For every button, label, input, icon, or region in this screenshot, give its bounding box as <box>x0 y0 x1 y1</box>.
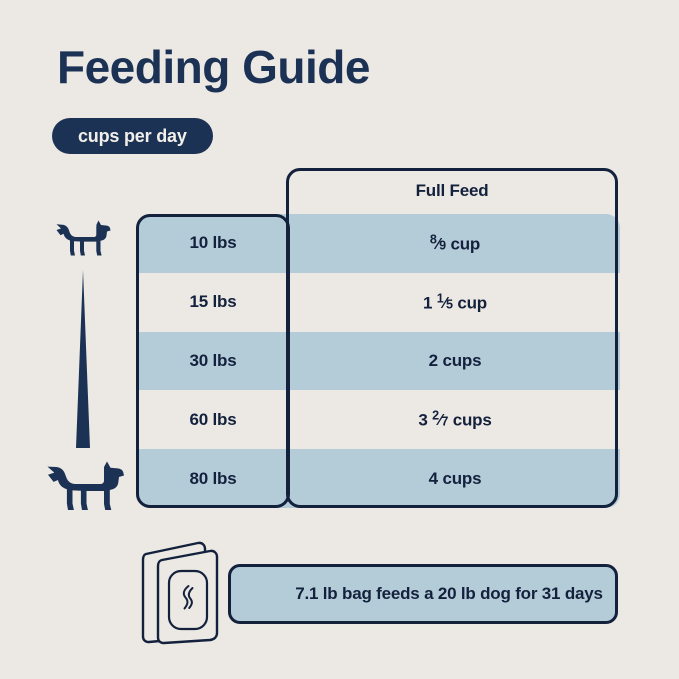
cell-weight: 60 lbs <box>136 410 290 430</box>
column-header-label: Full Feed <box>416 181 489 201</box>
callout-bar: 7.1 lb bag feeds a 20 lb dog for 31 days <box>228 564 618 624</box>
cell-weight: 10 lbs <box>136 233 290 253</box>
cell-amount: 3 2⁄7 cups <box>290 409 620 430</box>
table-row: 10 lbs 8⁄9 cup <box>136 214 620 273</box>
cell-weight: 30 lbs <box>136 351 290 371</box>
amount-whole: 3 <box>418 410 427 429</box>
amount-unit: cup <box>450 234 480 253</box>
cell-amount: 4 cups <box>290 469 620 489</box>
fraction: 2⁄7 <box>432 414 448 428</box>
amount-whole: 1 <box>423 293 432 312</box>
cell-weight: 80 lbs <box>136 469 290 489</box>
fraction: 8⁄9 <box>430 238 446 252</box>
page-title: Feeding Guide <box>57 42 370 93</box>
table-row: 60 lbs 3 2⁄7 cups <box>136 390 620 449</box>
table-row: 15 lbs 1 1⁄5 cup <box>136 273 620 332</box>
size-scale-column <box>44 218 124 516</box>
cell-amount: 8⁄9 cup <box>290 233 620 254</box>
small-dog-icon <box>54 218 112 260</box>
table-body: 10 lbs 8⁄9 cup 15 lbs 1 1⁄5 cup 30 lbs 2… <box>136 214 620 508</box>
amount-unit: cups <box>442 469 481 488</box>
callout-text: 7.1 lb bag feeds a 20 lb dog for 31 days <box>243 584 603 604</box>
large-dog-icon <box>44 458 126 516</box>
amount-unit: cups <box>453 410 492 429</box>
cell-amount: 1 1⁄5 cup <box>290 292 620 313</box>
status-badge: cups per day <box>52 118 213 154</box>
feeding-table: 10 lbs 8⁄9 cup 15 lbs 1 1⁄5 cup 30 lbs 2… <box>136 168 620 512</box>
table-row: 30 lbs 2 cups <box>136 332 620 391</box>
cell-weight: 15 lbs <box>136 292 290 312</box>
column-header-full-feed: Full Feed <box>286 168 618 214</box>
amount-unit: cup <box>457 293 487 312</box>
amount-whole: 2 <box>429 351 438 370</box>
food-bag-icon <box>136 538 246 646</box>
amount-unit: cups <box>442 351 481 370</box>
fraction: 1⁄5 <box>437 297 453 311</box>
table-row: 80 lbs 4 cups <box>136 449 620 508</box>
bag-callout: 7.1 lb bag feeds a 20 lb dog for 31 days <box>136 538 626 650</box>
badge-label: cups per day <box>78 126 187 147</box>
size-gradient-wedge-icon <box>66 270 100 448</box>
cell-amount: 2 cups <box>290 351 620 371</box>
amount-whole: 4 <box>429 469 438 488</box>
